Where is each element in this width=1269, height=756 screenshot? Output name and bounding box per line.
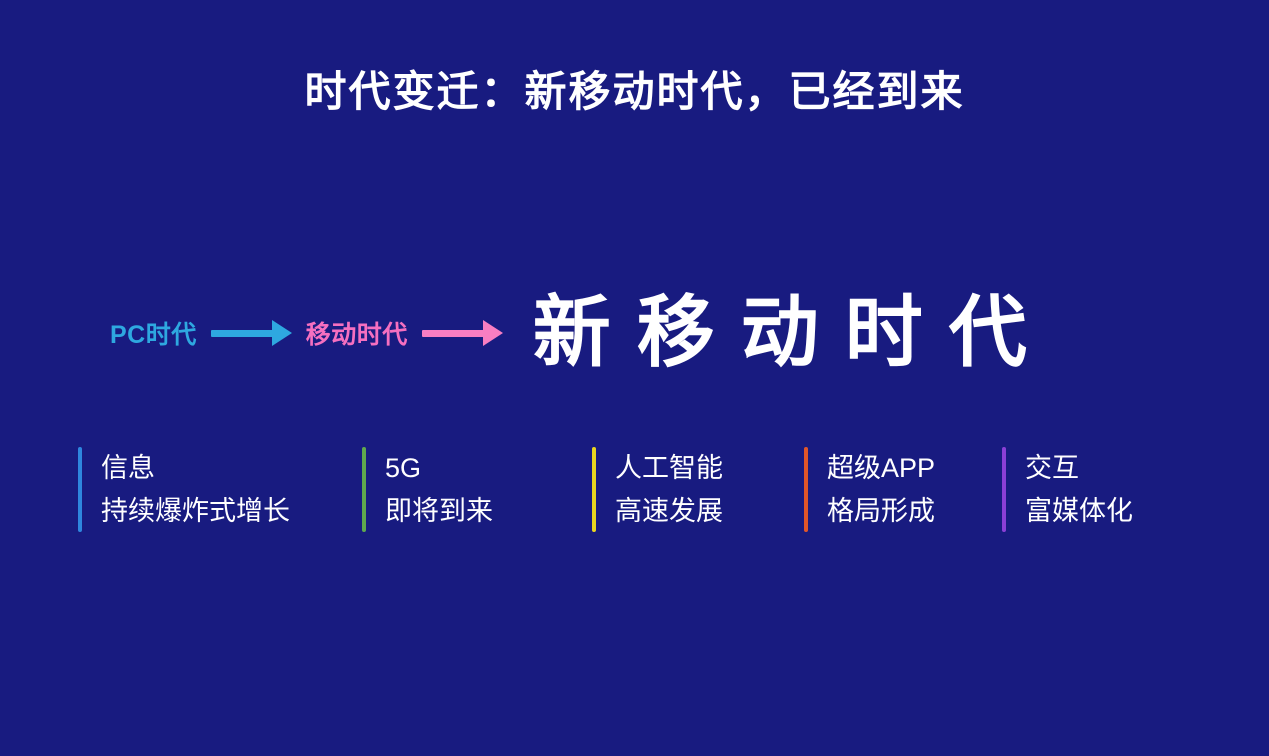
- feature-accent-bar: [78, 447, 82, 532]
- feature-accent-bar: [592, 447, 596, 532]
- feature-list: 信息 持续爆炸式增长 5G 即将到来 人工智能 高速发展 超级APP 格局形成: [78, 447, 1188, 537]
- feature-line-1: 交互: [1025, 447, 1133, 490]
- feature-text: 交互 富媒体化: [1025, 447, 1133, 532]
- feature-text: 5G 即将到来: [385, 447, 493, 532]
- feature-item-super-app: 超级APP 格局形成: [804, 447, 935, 532]
- feature-item-5g: 5G 即将到来: [362, 447, 493, 532]
- feature-line-2: 持续爆炸式增长: [101, 490, 290, 533]
- feature-line-2: 格局形成: [827, 490, 935, 533]
- arrow-shaft: [422, 330, 484, 337]
- feature-text: 信息 持续爆炸式增长: [101, 447, 290, 532]
- feature-text: 超级APP 格局形成: [827, 447, 935, 532]
- page-title: 时代变迁：新移动时代，已经到来: [0, 58, 1269, 119]
- arrow-right-icon-cyan: [211, 320, 292, 346]
- feature-line-1: 信息: [101, 447, 290, 490]
- headline-new-mobile-era: 新移动时代: [533, 292, 1053, 374]
- feature-item-interaction: 交互 富媒体化: [1002, 447, 1133, 532]
- feature-accent-bar: [362, 447, 366, 532]
- feature-line-2: 即将到来: [385, 490, 493, 533]
- arrow-head: [483, 320, 503, 346]
- feature-line-2: 富媒体化: [1025, 490, 1133, 533]
- feature-accent-bar: [804, 447, 808, 532]
- era-evolution-row: PC时代 移动时代 新移动时代: [110, 278, 1053, 388]
- era-label-mobile: 移动时代: [306, 315, 408, 351]
- feature-line-1: 5G: [385, 447, 493, 490]
- feature-line-1: 超级APP: [827, 447, 935, 490]
- feature-text: 人工智能 高速发展: [615, 447, 723, 532]
- feature-line-1: 人工智能: [615, 447, 723, 490]
- feature-accent-bar: [1002, 447, 1006, 532]
- arrow-head: [272, 320, 292, 346]
- feature-line-2: 高速发展: [615, 490, 723, 533]
- arrow-right-icon-pink: [422, 320, 503, 346]
- feature-item-information: 信息 持续爆炸式增长: [78, 447, 290, 532]
- slide-canvas: 时代变迁：新移动时代，已经到来 PC时代 移动时代 新移动时代 信息 持续爆炸式…: [0, 0, 1269, 756]
- arrow-shaft: [211, 330, 273, 337]
- feature-item-ai: 人工智能 高速发展: [592, 447, 723, 532]
- era-label-pc: PC时代: [110, 315, 197, 351]
